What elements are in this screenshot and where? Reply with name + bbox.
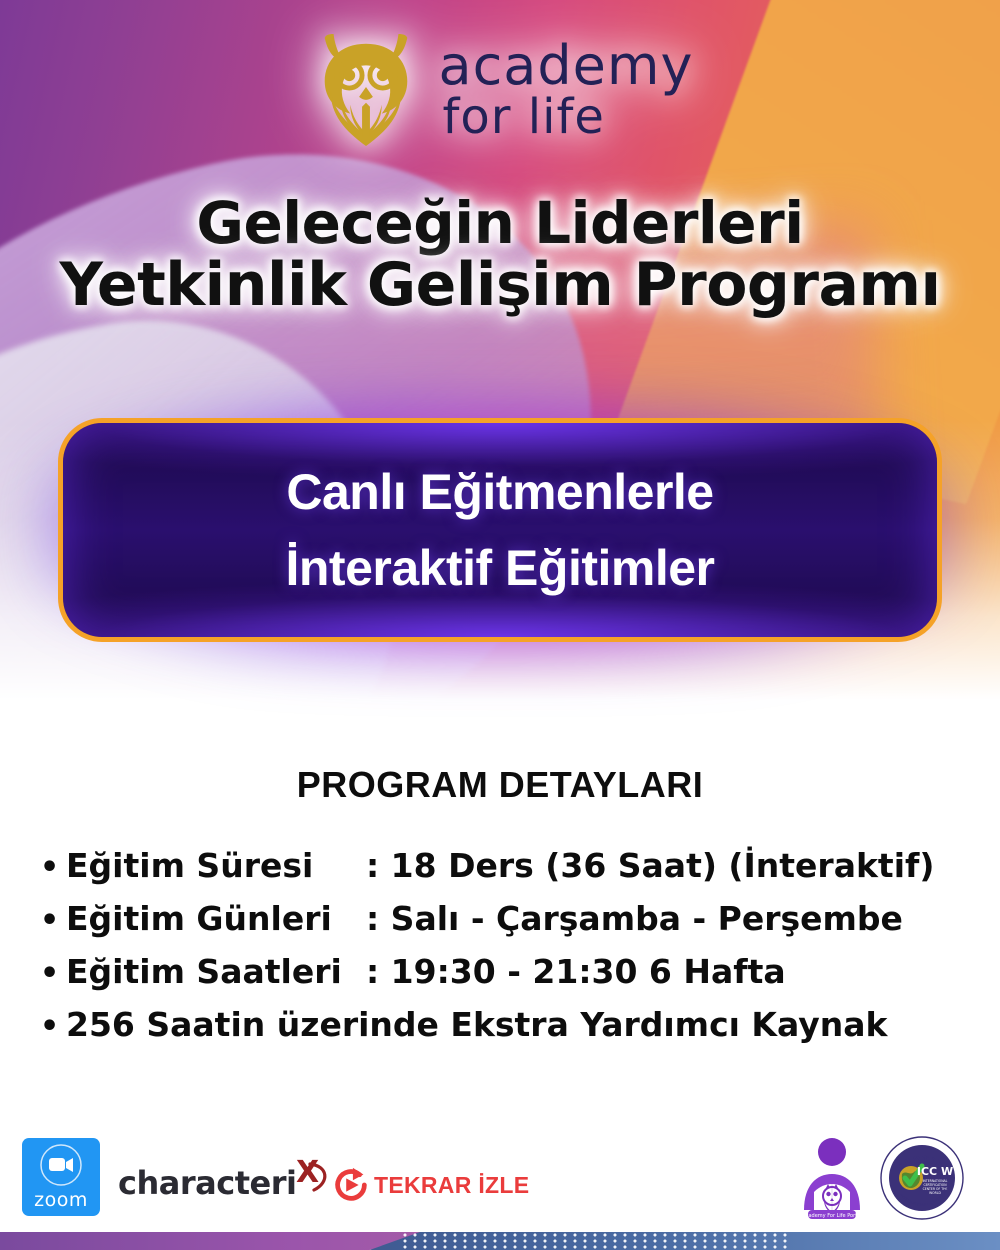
certified-seal-icon: CERTIFIED ICC W INTERNATIONAL CERTIFICAT…: [880, 1136, 964, 1220]
characterix-label: characteri: [118, 1164, 296, 1202]
characterix-logo[interactable]: characteri X: [118, 1160, 330, 1202]
strip-dot-pattern: [400, 1232, 790, 1250]
detail-value: : Salı - Çarşamba - Perşembe: [366, 893, 903, 944]
headline-line-2: Yetkinlik Gelişim Programı: [0, 254, 1000, 318]
bullet-icon: •: [40, 948, 66, 999]
brand-line2: for life: [443, 95, 694, 141]
details-list: • Eğitim Süresi : 18 Ders (36 Saat) (İnt…: [40, 840, 970, 1052]
list-item: • Eğitim Süresi : 18 Ders (36 Saat) (İnt…: [40, 840, 970, 893]
zoom-logo[interactable]: zoom: [22, 1138, 100, 1216]
list-item: • 256 Saatin üzerinde Ekstra Yardımcı Ka…: [40, 999, 970, 1052]
video-camera-icon: [39, 1143, 83, 1187]
list-item: • Eğitim Saatleri : 19:30 - 21:30 6 Haft…: [40, 946, 970, 999]
bullet-icon: •: [40, 1001, 66, 1052]
details-heading: PROGRAM DETAYLARI: [0, 764, 1000, 806]
strip-purple-segment: [0, 1232, 420, 1250]
detail-label: Eğitim Süresi: [66, 840, 366, 891]
replay-play-icon: [330, 1164, 372, 1206]
brand-line1: academy: [439, 40, 694, 91]
portal-caption: Academy For Life Portal: [802, 1213, 861, 1219]
zoom-label: zoom: [34, 1189, 88, 1211]
banner-line-2: İnteraktif Eğitimler: [286, 530, 715, 606]
brand-wordmark: academy for life: [439, 40, 694, 141]
bullet-icon: •: [40, 895, 66, 946]
list-item: • Eğitim Günleri : Salı - Çarşamba - Per…: [40, 893, 970, 946]
bottom-strip: [0, 1232, 1000, 1250]
detail-value: : 19:30 - 21:30 6 Hafta: [366, 946, 786, 997]
detail-label: 256 Saatin üzerinde Ekstra Yardımcı Kayn…: [66, 999, 887, 1050]
page-title: Geleceğin Liderleri Yetkinlik Gelişim Pr…: [0, 193, 1000, 318]
banner-line-1: Canlı Eğitmenlerle: [286, 454, 713, 530]
svg-text:X: X: [296, 1155, 319, 1190]
detail-label: Eğitim Günleri: [66, 893, 366, 944]
svg-text:WORLD: WORLD: [929, 1191, 941, 1195]
poster-root: academy for life Geleceğin Liderleri Yet…: [0, 0, 1000, 1250]
brand-logo: academy for life: [0, 30, 1000, 150]
headline-line-1: Geleceğin Liderleri: [0, 193, 1000, 254]
owl-icon: [307, 30, 425, 150]
tekrar-izle-label: TEKRAR İZLE: [374, 1172, 529, 1199]
detail-label: Eğitim Saatleri: [66, 946, 366, 997]
highlight-banner: Canlı Eğitmenlerle İnteraktif Eğitimler: [58, 418, 942, 642]
footer-logos: zoom characteri X TEKRAR İZLE: [0, 1128, 1000, 1232]
seal-title: ICC W: [917, 1165, 953, 1178]
bullet-icon: •: [40, 842, 66, 893]
tekrar-izle-logo[interactable]: TEKRAR İZLE: [330, 1164, 529, 1206]
detail-value: : 18 Ders (36 Saat) (İnteraktif): [366, 840, 934, 891]
reader-owl-icon: Academy For Life Portal: [800, 1136, 864, 1222]
characterix-x-icon: X: [296, 1160, 330, 1194]
